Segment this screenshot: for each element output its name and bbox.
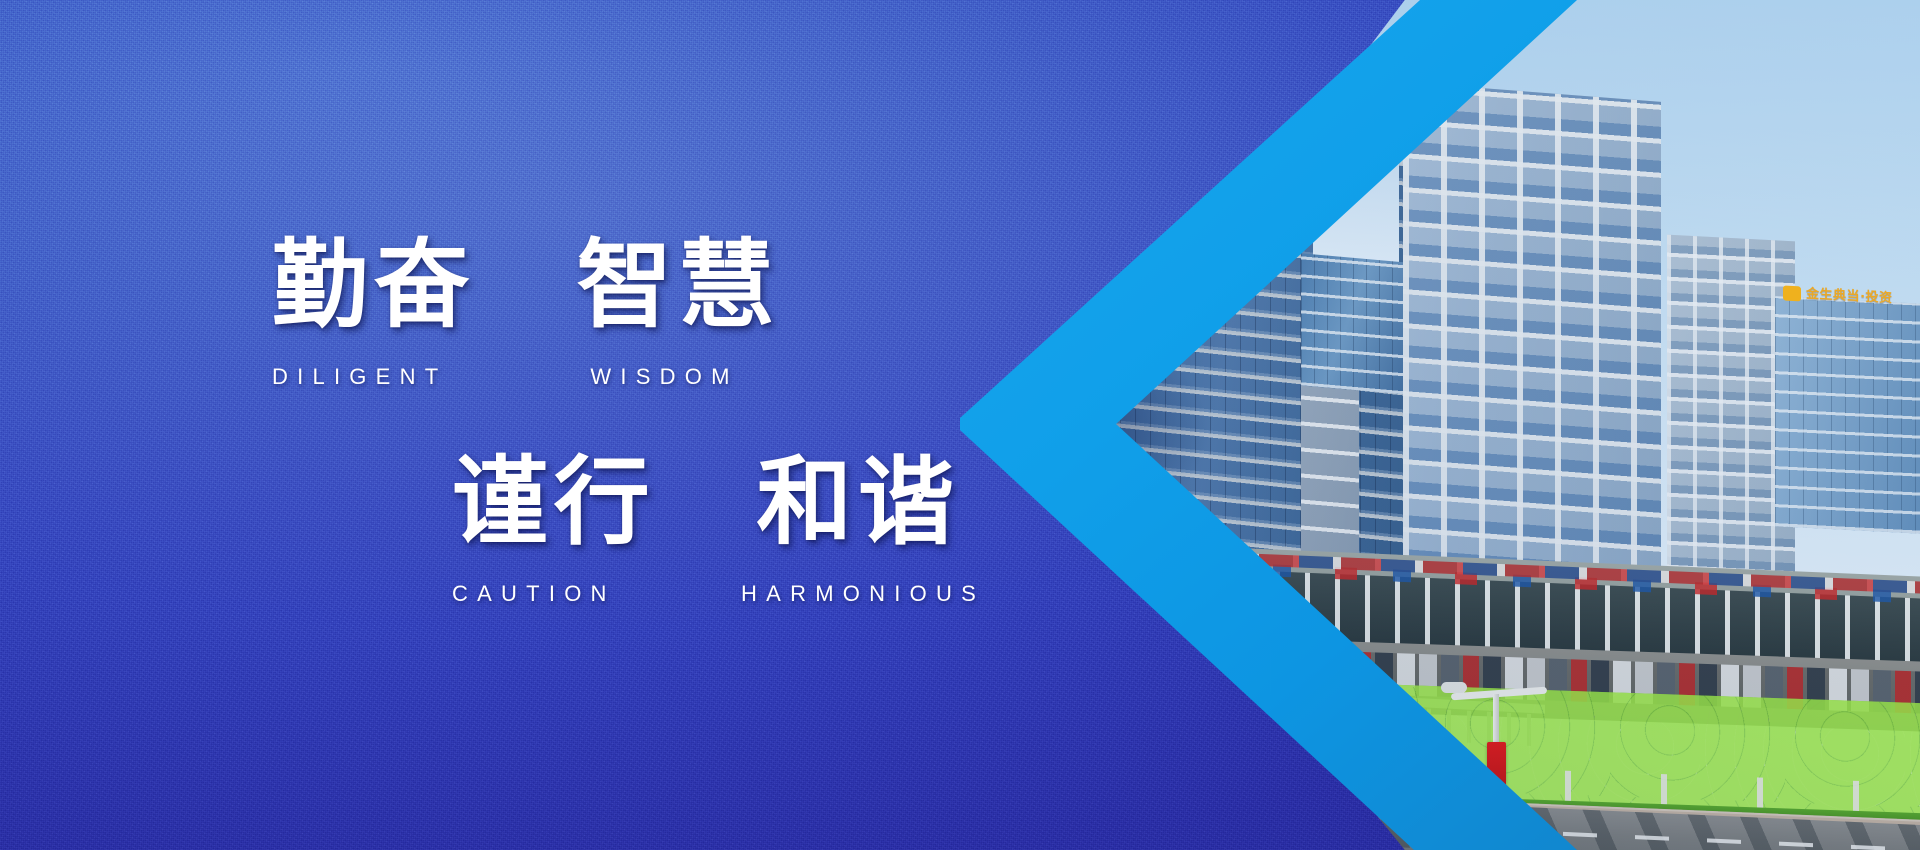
slogan-line1-zh-1: 勤奋: [272, 232, 476, 339]
slogan-line2-zh-2: 和谐: [756, 449, 960, 556]
pawnshop-logo-icon: [1783, 285, 1801, 301]
hero-banner: 江 苏 国 泰 金生典当·投资: [0, 0, 1920, 850]
rooftop-sign-char-1: 江: [1215, 85, 1248, 121]
office-building-photo: 江 苏 国 泰 金生典当·投资: [1115, 0, 1920, 850]
slogan-line2-english: CAUTION HARMONIOUS: [452, 583, 985, 605]
pawnshop-sign-text: 金生典当·投资: [1806, 287, 1893, 305]
slogan-line2-en-1: CAUTION: [452, 581, 616, 606]
street-lamp-head: [1441, 682, 1467, 693]
glass-sky-bridge: [1301, 253, 1409, 394]
slogan-block: 勤奋 智慧 DILIGENT WISDOM 谨行 和谐 CAUTION HARM…: [0, 0, 1160, 850]
slogan-line2-zh-1: 谨行: [452, 449, 656, 556]
slogan-line2-chinese: 谨行 和谐: [452, 455, 960, 551]
slogan-line1-zh-2: 智慧: [576, 232, 780, 339]
slogan-line1-en-1: DILIGENT: [272, 364, 447, 389]
slogan-line1-english: DILIGENT WISDOM: [272, 366, 739, 388]
pawnshop-building: [1775, 296, 1920, 534]
slogan-line1-chinese: 勤奋 智慧: [272, 238, 780, 334]
slogan-line1-en-2: WISDOM: [590, 366, 738, 388]
photo-canvas: 江 苏 国 泰 金生典当·投资: [1115, 0, 1920, 850]
slogan-line2-en-2: HARMONIOUS: [741, 583, 985, 605]
